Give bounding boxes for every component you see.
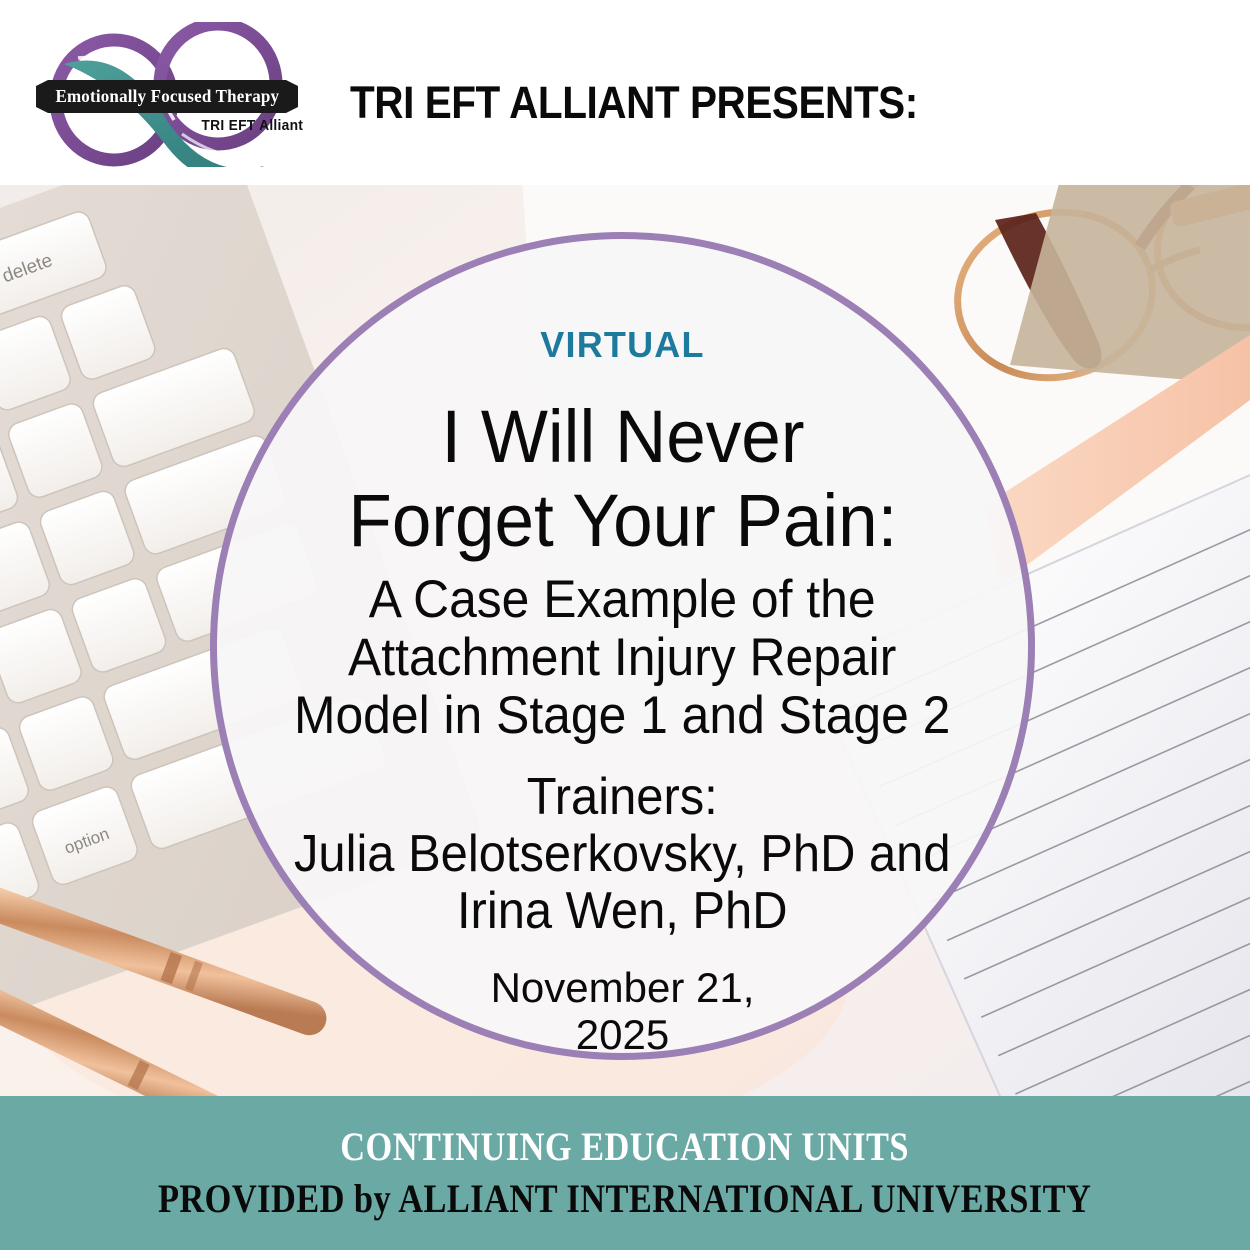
event-subtitle: A Case Example of the Attachment Injury … [294,571,950,745]
footer-ceu-line: CONTINUING EDUCATION UNITS [341,1123,910,1171]
logo-ribbon: Emotionally Focused Therapy [36,80,298,113]
presents-heading-text: TRI EFT ALLIANT PRESENTS: [350,77,918,129]
tri-eft-alliant-logo: Emotionally Focused Therapy TRI EFT Alli… [22,22,312,167]
poster: F11 delete + = – } ] | \ P { [ " ' L : ; [0,0,1250,1250]
trainers-block: Trainers: Julia Belotserkovsky, PhD and … [294,769,951,940]
presents-heading: TRI EFT ALLIANT PRESENTS: [350,73,970,133]
footer-bar: CONTINUING EDUCATION UNITS PROVIDED by A… [0,1096,1250,1250]
logo-ribbon-text: Emotionally Focused Therapy [55,86,279,107]
event-date: November 21, 2025 [491,964,755,1058]
logo-subtext: TRI EFT Alliant [202,117,304,134]
virtual-label: VIRTUAL [540,325,704,365]
footer-provider-line: PROVIDED by ALLIANT INTERNATIONAL UNIVER… [158,1175,1091,1223]
event-title: I Will Never Forget Your Pain: [348,395,897,563]
content-circle: VIRTUAL I Will Never Forget Your Pain: A… [210,232,1035,1060]
header-bar: Emotionally Focused Therapy TRI EFT Alli… [0,0,1250,185]
